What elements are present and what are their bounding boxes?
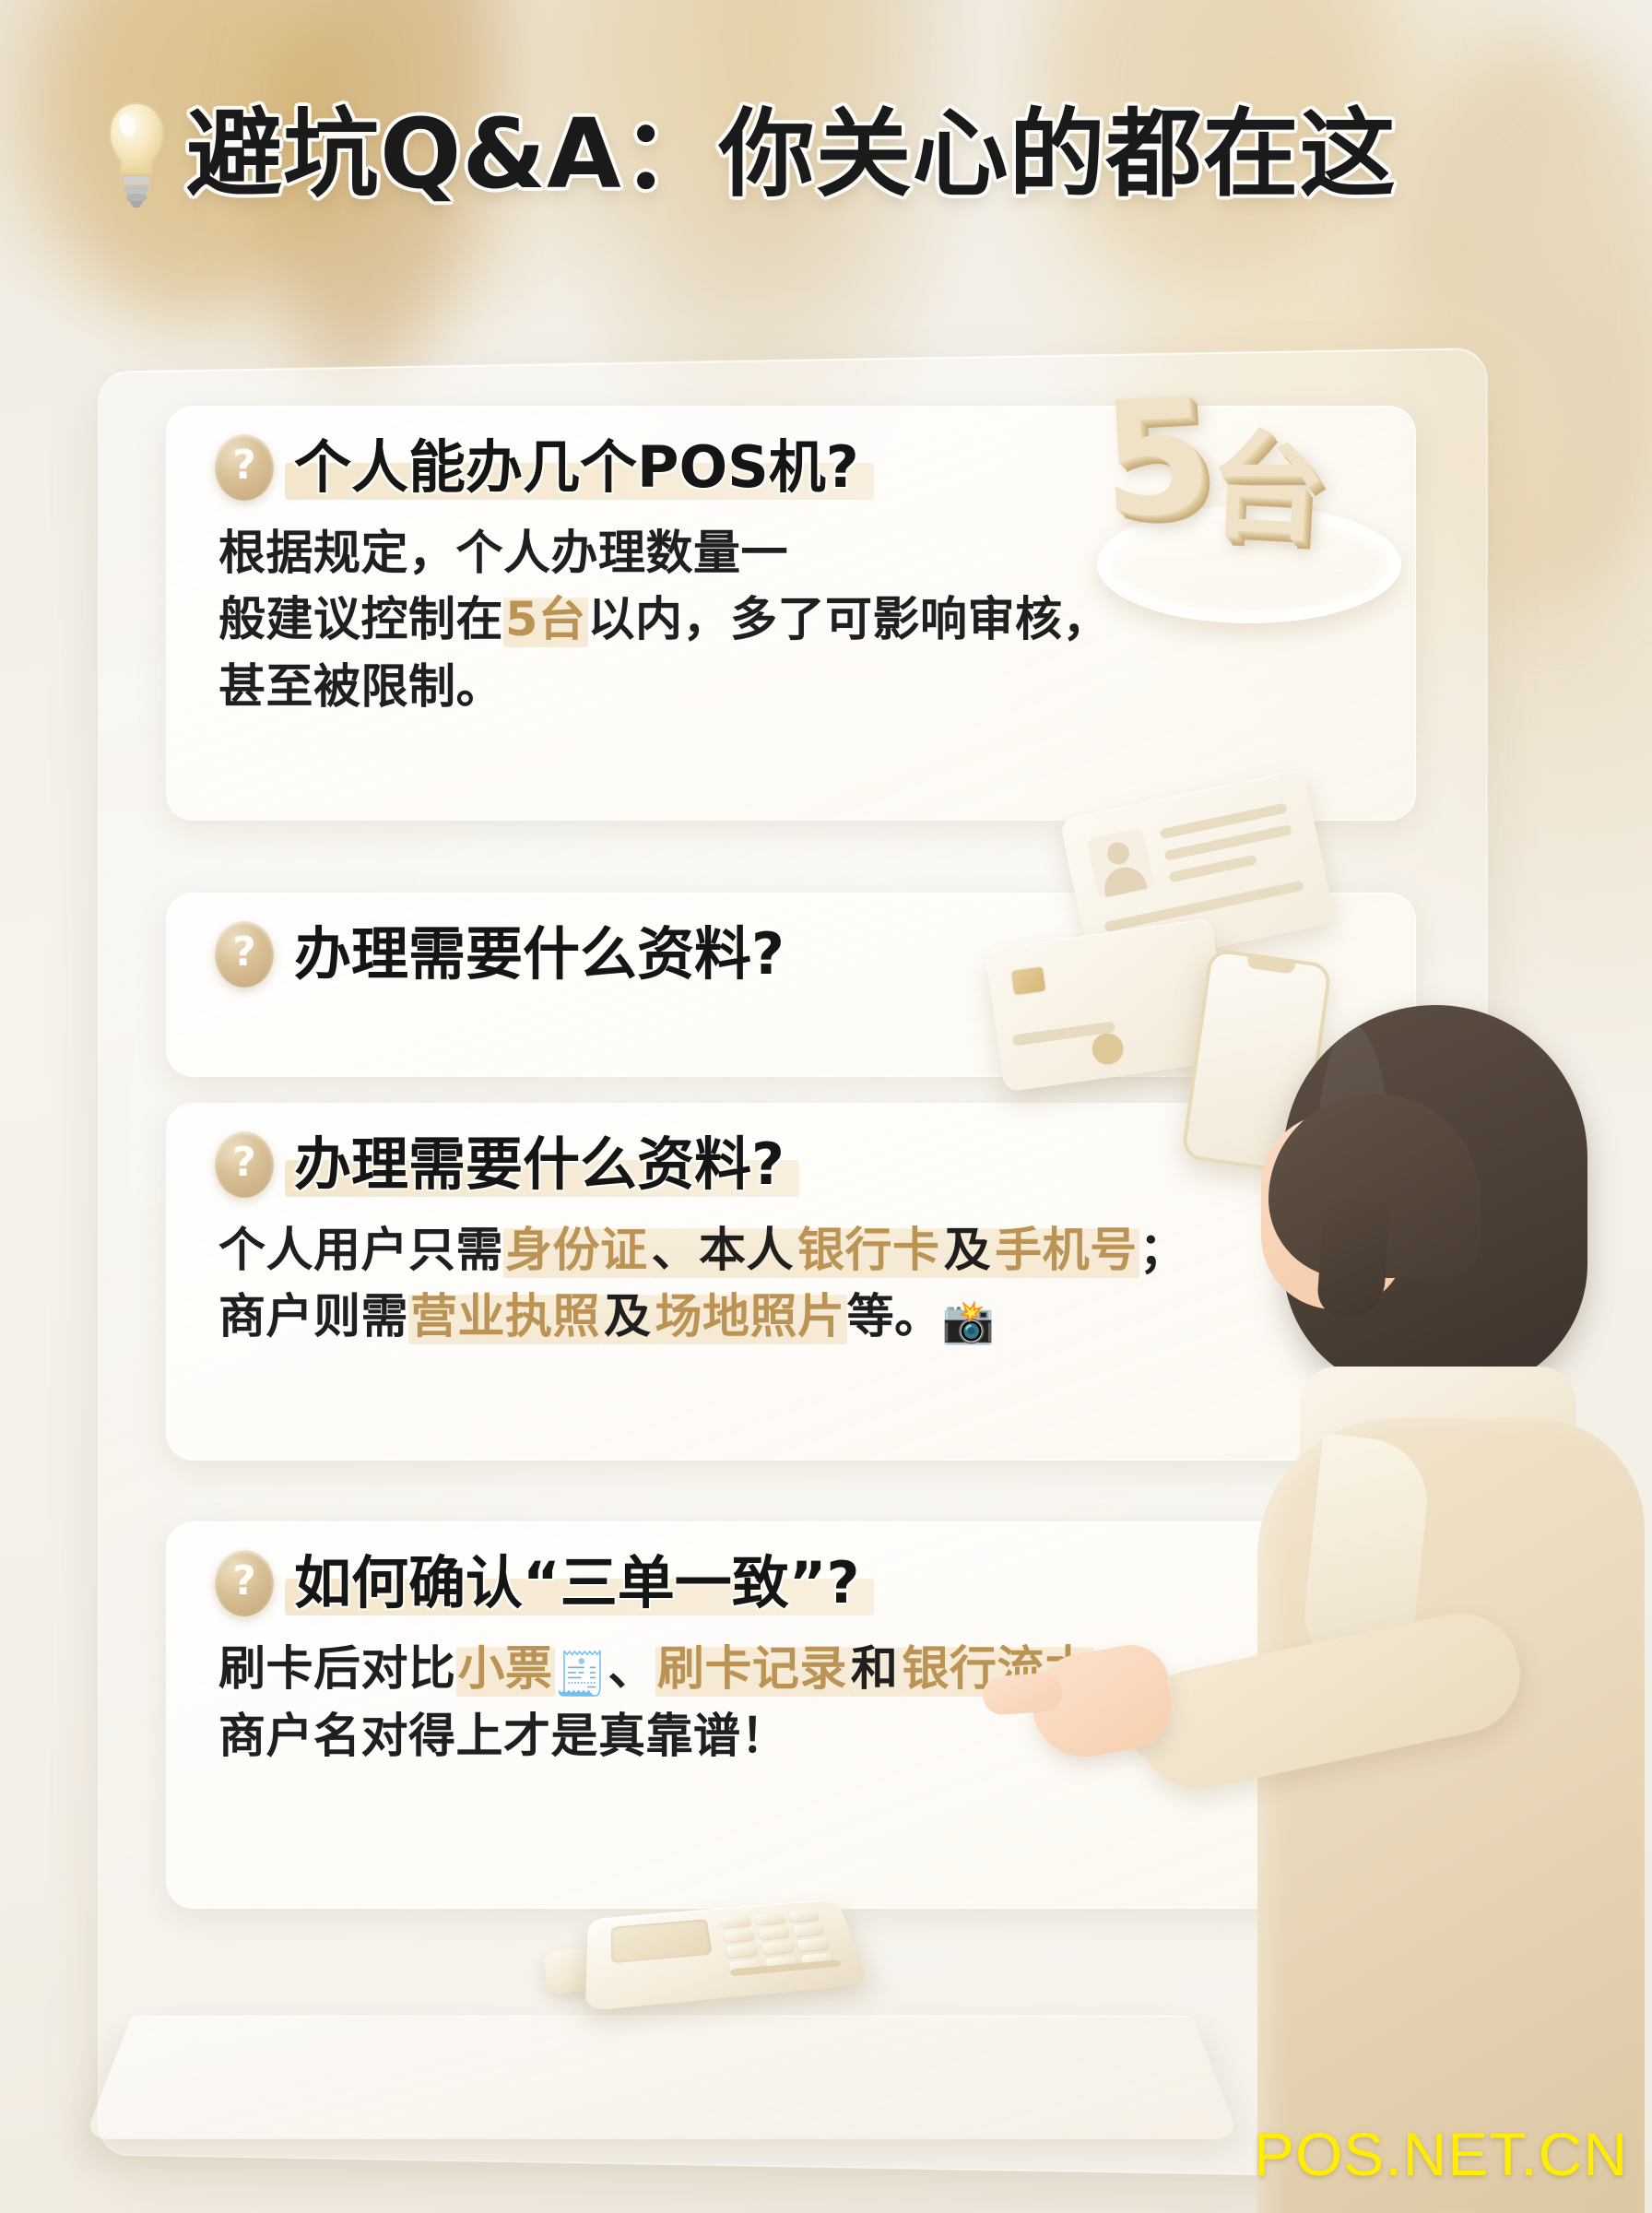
answer-text: 商户名对得上才是真靠谱！ [218,1710,788,1764]
qa-card[interactable]: ?办理需要什么资料? [166,893,1416,1077]
page-title-row: 避坑Q&A：你关心的都在这 [103,100,1397,208]
answer-line: 商户则需营业执照及场地照片等。📸 [218,1284,1360,1352]
answer-line: 甚至被限制。 [218,655,1360,721]
lightbulb-icon [103,100,170,208]
answer-text: 根据规定，个人办理数量一 [218,527,788,581]
qa-card[interactable]: ?办理需要什么资料?个人用户只需身份证、本人银行卡及手机号；商户则需营业执照及场… [166,1103,1416,1461]
question-mark-badge-icon: ? [215,921,274,988]
qa-card[interactable]: ?如何确认“三单一致”?刷卡后对比小票🧾、刷卡记录和银行流水，商户名对得上才是真… [166,1521,1416,1909]
question-text-wrap: 个人能办几个POS机? [294,437,859,498]
answer-text: 个人用户只需 [218,1224,503,1278]
answer-text: 、 [608,1642,655,1697]
site-watermark: POS.NET.CN [1254,2119,1628,2189]
answer-body: 根据规定，个人办理数量一般建议控制在5台以内，多了可影响审核，甚至被限制。 [167,501,1415,721]
answer-text: 及 [602,1290,654,1344]
qa-question-row: ?办理需要什么资料? [167,1104,1415,1198]
answer-keyword: 银行卡 [796,1224,942,1278]
answer-text: 、本人 [650,1224,796,1278]
qa-question-row: ?个人能办几个POS机? [167,407,1415,501]
answer-text: 般建议控制在 [218,593,503,647]
answer-text: 和 [849,1642,901,1697]
answer-keyword: 5台 [503,593,588,647]
inline-emoji-icon: 📸 [942,1296,996,1346]
answer-text: 商户则需 [218,1290,408,1344]
answer-line: 般建议控制在5台以内，多了可影响审核， [218,587,1360,654]
answer-text: 以内，多了可影响审核， [588,593,1111,647]
answer-keyword: 营业执照 [408,1290,602,1344]
answer-keyword: 场地照片 [654,1290,847,1344]
answer-keyword: 银行流水 [900,1642,1093,1697]
question-mark-badge-icon: ? [215,1131,274,1198]
answer-text: 及 [942,1224,994,1278]
question-mark-badge-icon: ? [215,1550,274,1616]
answer-text: 刷卡后对比 [218,1642,456,1697]
qa-card[interactable]: ?个人能办几个POS机?根据规定，个人办理数量一般建议控制在5台以内，多了可影响… [166,406,1416,821]
answer-body: 个人用户只需身份证、本人银行卡及手机号；商户则需营业执照及场地照片等。📸 [167,1198,1415,1353]
answer-keyword: 手机号 [993,1224,1139,1278]
answer-keyword: 刷卡记录 [655,1642,849,1697]
answer-text: ， [1093,1642,1141,1697]
question-text: 个人能办几个POS机? [294,437,859,498]
question-mark-badge-icon: ? [215,434,274,501]
question-text: 如何确认“三单一致”? [294,1553,859,1614]
qa-question-row: ?办理需要什么资料? [167,893,1415,988]
answer-body: 刷卡后对比小票🧾、刷卡记录和银行流水，商户名对得上才是真靠谱！ [167,1616,1415,1771]
page-title: 避坑Q&A：你关心的都在这 [186,106,1397,202]
answer-line: 个人用户只需身份证、本人银行卡及手机号； [218,1218,1360,1284]
answer-line: 刷卡后对比小票🧾、刷卡记录和银行流水， [218,1637,1360,1704]
question-text-wrap: 如何确认“三单一致”? [294,1553,859,1614]
answer-keyword: 身份证 [503,1224,650,1278]
question-text: 办理需要什么资料? [294,1134,785,1195]
question-text-wrap: 办理需要什么资料? [294,1134,785,1195]
answer-line: 商户名对得上才是真靠谱！ [218,1704,1360,1770]
answer-text: 等。 [847,1290,942,1344]
question-text-wrap: 办理需要什么资料? [294,924,785,985]
inline-emoji-icon: 🧾 [555,1649,608,1698]
answer-line: 根据规定，个人办理数量一 [218,521,1360,587]
question-text: 办理需要什么资料? [294,924,785,985]
answer-text: ； [1139,1224,1187,1278]
qa-question-row: ?如何确认“三单一致”? [167,1522,1415,1616]
answer-text: 甚至被限制。 [218,660,503,715]
answer-keyword: 小票 [456,1642,555,1697]
glass-table-surface [84,2016,1240,2139]
poster-root: 避坑Q&A：你关心的都在这 5台 [0,0,1652,2213]
